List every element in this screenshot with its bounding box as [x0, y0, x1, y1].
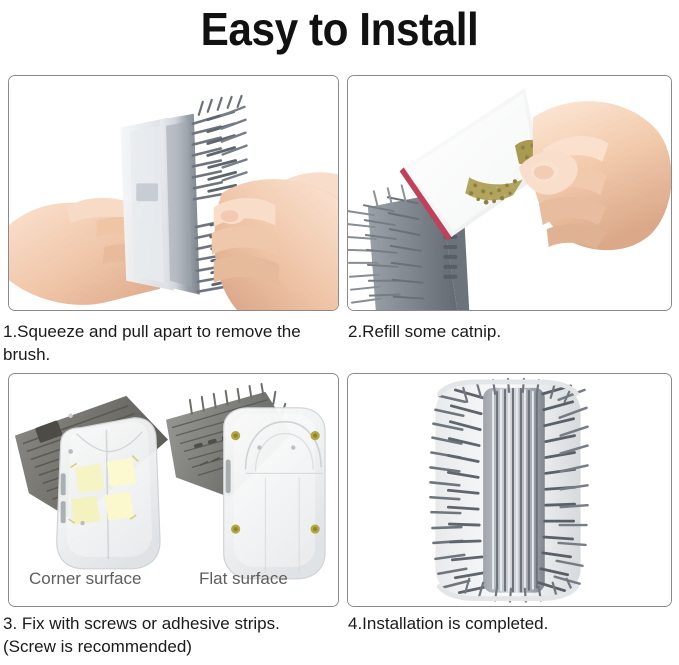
illustration-squeeze-brush	[9, 76, 338, 311]
step-4-image-panel	[347, 373, 672, 607]
step-3-caption: 3. Fix with screws or adhesive strips. (…	[3, 612, 343, 658]
step-2-caption: 2.Refill some catnip.	[348, 320, 673, 343]
step-1-image-panel	[8, 75, 339, 311]
illustration-refill-catnip	[348, 76, 671, 311]
step-4-caption: 4.Installation is completed.	[348, 612, 673, 635]
corner-surface-label: Corner surface	[29, 569, 141, 589]
step-2-image-panel	[347, 75, 672, 311]
illustration-installed-brush	[348, 374, 671, 607]
page-title: Easy to Install	[27, 2, 652, 56]
flat-surface-label: Flat surface	[199, 569, 288, 589]
step-1-caption: 1.Squeeze and pull apart to remove the b…	[3, 320, 343, 366]
